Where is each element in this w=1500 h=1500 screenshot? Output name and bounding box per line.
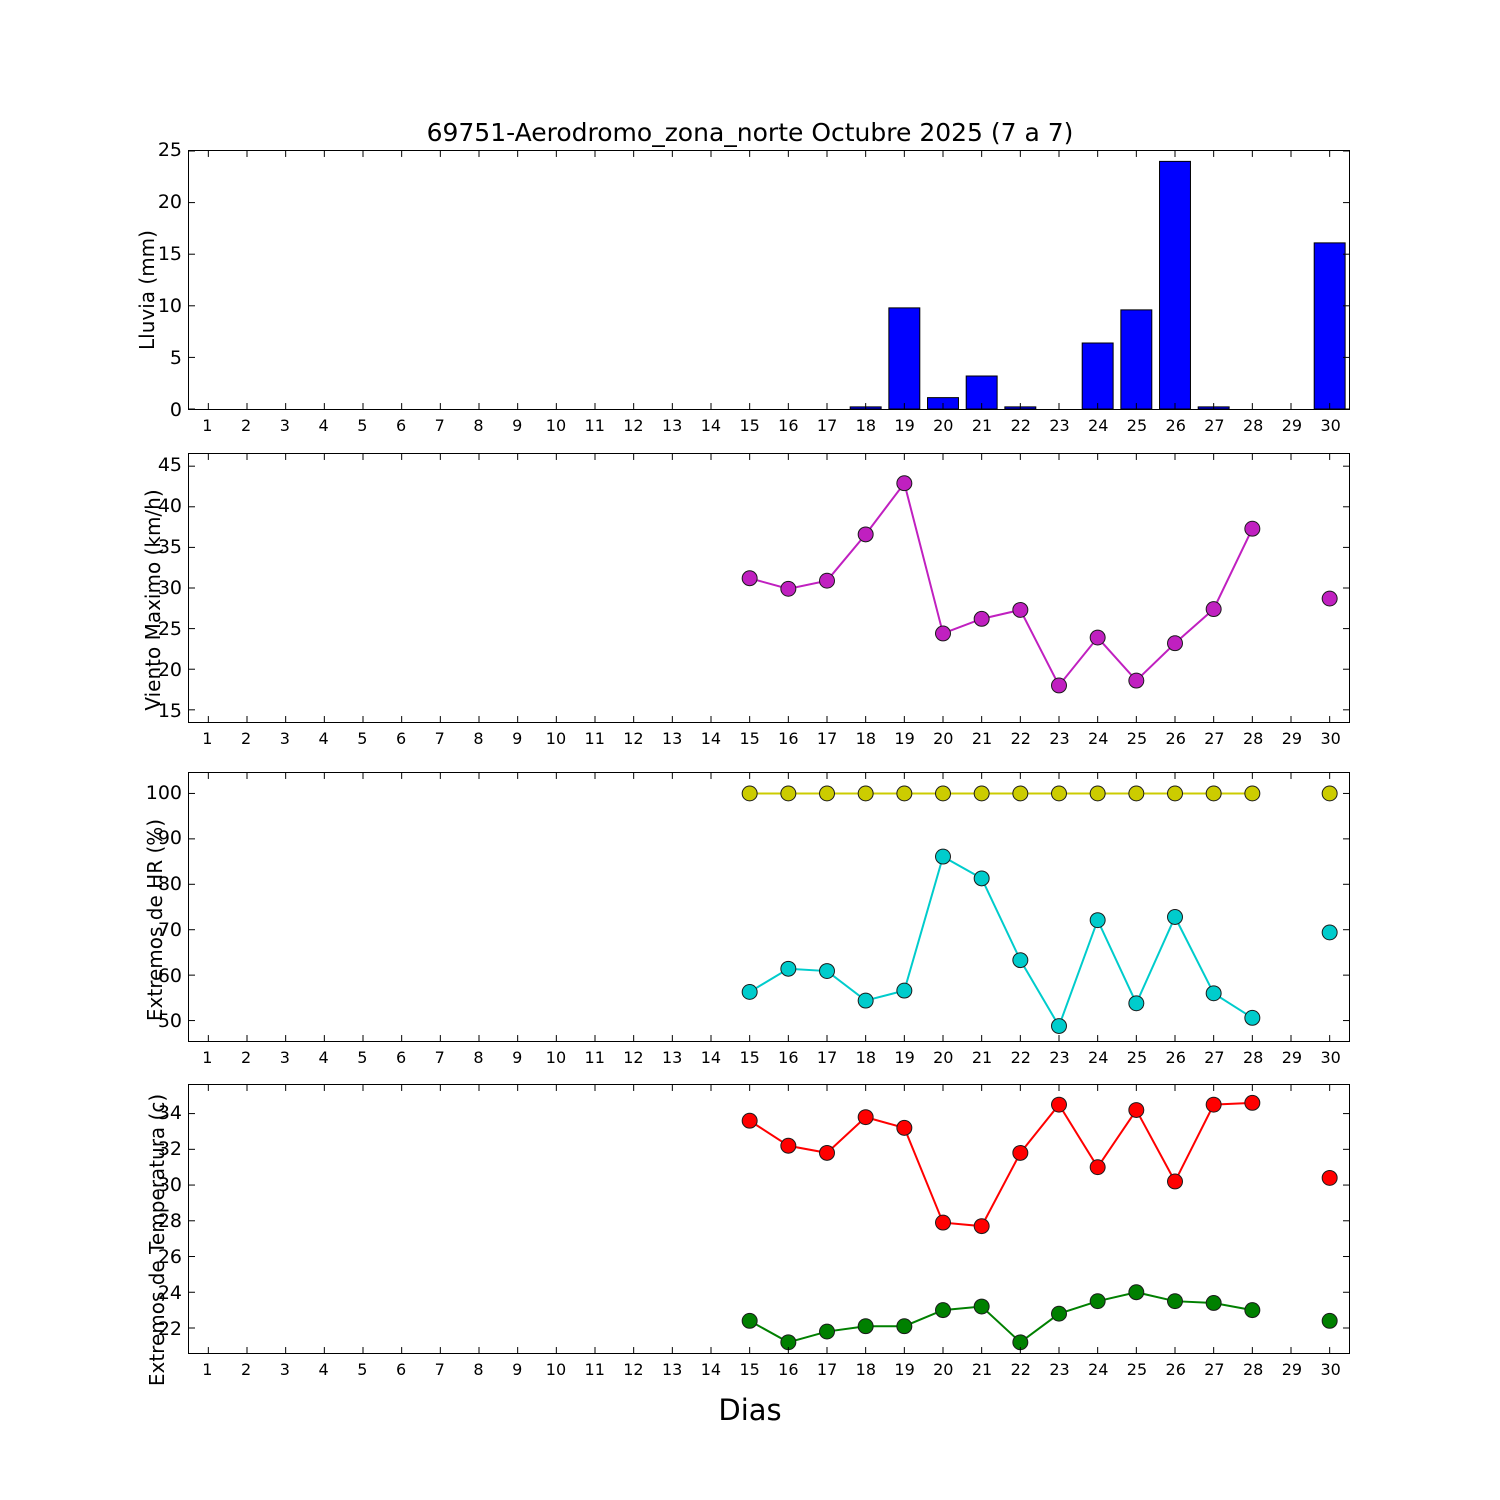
- xtick-label: 5: [357, 729, 367, 748]
- series-marker: [1322, 925, 1337, 940]
- ytick-labels-temperatura: 22242628303234: [136, 1084, 182, 1354]
- series-marker: [820, 786, 835, 801]
- ytick-label: 80: [158, 873, 182, 895]
- xtick-label: 20: [933, 729, 953, 748]
- ytick-labels-hr: 5060708090100: [136, 772, 182, 1042]
- series-marker: [1052, 1306, 1067, 1321]
- series-marker: [820, 573, 835, 588]
- xtick-label: 10: [546, 1048, 566, 1067]
- series-marker: [1129, 786, 1144, 801]
- xtick-label: 1: [202, 416, 212, 435]
- series-marker: [1052, 678, 1067, 693]
- ytick-label: 28: [158, 1210, 182, 1232]
- ytick-labels-lluvia: 0510152025: [136, 150, 182, 410]
- xtick-label: 13: [662, 1360, 682, 1379]
- xtick-label: 5: [357, 1360, 367, 1379]
- series-marker: [1245, 786, 1260, 801]
- ytick-label: 30: [158, 1174, 182, 1196]
- xtick-label: 9: [512, 729, 522, 748]
- series-marker: [1129, 673, 1144, 688]
- xtick-label: 25: [1127, 729, 1147, 748]
- xtick-label: 23: [1049, 729, 1069, 748]
- xtick-label: 1: [202, 1360, 212, 1379]
- series-marker: [1013, 786, 1028, 801]
- xtick-label: 27: [1204, 1360, 1224, 1379]
- xtick-label: 2: [241, 729, 251, 748]
- xtick-label: 3: [280, 729, 290, 748]
- xtick-label: 19: [894, 416, 914, 435]
- xtick-label: 6: [396, 1360, 406, 1379]
- ytick-label: 100: [146, 782, 182, 804]
- temperatura-series: [742, 1095, 1337, 1349]
- ytick-label: 10: [158, 295, 182, 317]
- xtick-label: 12: [623, 1360, 643, 1379]
- xtick-label: 28: [1243, 1360, 1263, 1379]
- xtick-label: 16: [778, 416, 798, 435]
- series-marker: [1090, 1294, 1105, 1309]
- series-marker: [1322, 591, 1337, 606]
- series-marker: [1245, 1303, 1260, 1318]
- axis-ticks: [189, 454, 1349, 722]
- series-marker: [820, 1145, 835, 1160]
- xtick-label: 24: [1088, 416, 1108, 435]
- xtick-label: 29: [1282, 1048, 1302, 1067]
- ytick-labels-viento: 15202530354045: [136, 453, 182, 723]
- xtick-label: 18: [856, 1360, 876, 1379]
- viento-plot: [189, 454, 1349, 722]
- viento-series: [742, 476, 1337, 693]
- xtick-label: 18: [856, 416, 876, 435]
- xtick-label: 2: [241, 1048, 251, 1067]
- series-marker: [936, 1303, 951, 1318]
- xtick-label: 11: [585, 1360, 605, 1379]
- series-marker: [742, 1313, 757, 1328]
- ytick-label: 26: [158, 1246, 182, 1268]
- xtick-label: 8: [473, 416, 483, 435]
- series-marker: [1206, 786, 1221, 801]
- xtick-label: 24: [1088, 1360, 1108, 1379]
- series-marker: [897, 1319, 912, 1334]
- series-marker: [1168, 1174, 1183, 1189]
- xtick-label: 3: [280, 416, 290, 435]
- xtick-label: 21: [972, 729, 992, 748]
- xtick-label: 30: [1320, 416, 1340, 435]
- xaxis-title: Dias: [0, 1393, 1500, 1427]
- xtick-label: 17: [817, 416, 837, 435]
- xtick-label: 25: [1127, 416, 1147, 435]
- xtick-label: 7: [435, 729, 445, 748]
- xtick-label: 30: [1320, 1360, 1340, 1379]
- series-marker: [936, 626, 951, 641]
- xtick-label: 4: [318, 1360, 328, 1379]
- xtick-label: 17: [817, 1360, 837, 1379]
- series-marker: [1168, 636, 1183, 651]
- panel-lluvia: [188, 150, 1350, 410]
- xtick-label: 29: [1282, 729, 1302, 748]
- series-marker: [897, 786, 912, 801]
- series-marker: [1168, 1294, 1183, 1309]
- xtick-label: 11: [585, 416, 605, 435]
- series-marker: [1090, 1160, 1105, 1175]
- xtick-label: 24: [1088, 729, 1108, 748]
- xtick-label: 8: [473, 1048, 483, 1067]
- ytick-label: 30: [158, 577, 182, 599]
- xtick-label: 25: [1127, 1360, 1147, 1379]
- series-marker: [742, 984, 757, 999]
- xtick-label: 13: [662, 416, 682, 435]
- xtick-label: 22: [1011, 416, 1031, 435]
- xtick-label: 16: [778, 1048, 798, 1067]
- axis-ticks: [189, 773, 1349, 1041]
- xtick-label: 8: [473, 729, 483, 748]
- xtick-label: 26: [1166, 1360, 1186, 1379]
- xtick-label: 23: [1049, 1360, 1069, 1379]
- series-marker: [858, 1319, 873, 1334]
- ytick-label: 20: [158, 191, 182, 213]
- series-marker: [781, 786, 796, 801]
- series-line: [750, 1103, 1253, 1226]
- ytick-label: 60: [158, 965, 182, 987]
- series-marker: [974, 1299, 989, 1314]
- xtick-label: 21: [972, 1360, 992, 1379]
- xtick-label: 28: [1243, 416, 1263, 435]
- xtick-label: 23: [1049, 1048, 1069, 1067]
- xtick-label: 20: [933, 1048, 953, 1067]
- xtick-label: 7: [435, 1048, 445, 1067]
- xtick-label: 14: [701, 416, 721, 435]
- ytick-label: 25: [158, 139, 182, 161]
- ytick-label: 25: [158, 618, 182, 640]
- series-marker: [1206, 602, 1221, 617]
- series-marker: [1129, 996, 1144, 1011]
- xtick-label: 15: [739, 1048, 759, 1067]
- series-marker: [974, 871, 989, 886]
- xtick-label: 13: [662, 729, 682, 748]
- series-marker: [742, 1113, 757, 1128]
- xtick-label: 1: [202, 1048, 212, 1067]
- xtick-label: 20: [933, 1360, 953, 1379]
- xtick-label: 13: [662, 1048, 682, 1067]
- series-marker: [742, 571, 757, 586]
- xtick-label: 3: [280, 1048, 290, 1067]
- ytick-label: 22: [158, 1318, 182, 1340]
- lluvia-bars: [850, 161, 1345, 409]
- xtick-label: 9: [512, 1360, 522, 1379]
- xtick-label: 29: [1282, 416, 1302, 435]
- series-marker: [974, 1219, 989, 1234]
- xtick-label: 25: [1127, 1048, 1147, 1067]
- chart-page: 69751-Aerodromo_zona_norte Octubre 2025 …: [0, 0, 1500, 1500]
- rain-bar: [1314, 243, 1345, 409]
- series-marker: [1013, 602, 1028, 617]
- xtick-label: 16: [778, 1360, 798, 1379]
- ytick-label: 15: [158, 243, 182, 265]
- series-marker: [858, 786, 873, 801]
- series-marker: [1168, 786, 1183, 801]
- series-marker: [936, 1215, 951, 1230]
- rain-bar: [1121, 310, 1152, 409]
- series-marker: [1129, 1103, 1144, 1118]
- xtick-label: 26: [1166, 729, 1186, 748]
- series-marker: [858, 527, 873, 542]
- xtick-label: 7: [435, 416, 445, 435]
- series-marker: [1322, 1313, 1337, 1328]
- xtick-label: 12: [623, 416, 643, 435]
- xtick-label: 28: [1243, 729, 1263, 748]
- ytick-label: 40: [158, 495, 182, 517]
- rain-bar: [889, 308, 920, 409]
- xticks-hr: 1234567891011121314151617181920212223242…: [188, 1048, 1350, 1072]
- series-marker: [974, 786, 989, 801]
- series-marker: [936, 849, 951, 864]
- xtick-label: 21: [972, 1048, 992, 1067]
- xtick-label: 14: [701, 1360, 721, 1379]
- axis-ticks: [189, 1085, 1349, 1353]
- xtick-label: 10: [546, 416, 566, 435]
- xtick-label: 19: [894, 1048, 914, 1067]
- xticks-temperatura: 1234567891011121314151617181920212223242…: [188, 1360, 1350, 1384]
- xtick-label: 10: [546, 1360, 566, 1379]
- xtick-label: 22: [1011, 1048, 1031, 1067]
- xtick-label: 4: [318, 729, 328, 748]
- series-marker: [897, 476, 912, 491]
- series-marker: [820, 964, 835, 979]
- xtick-label: 30: [1320, 1048, 1340, 1067]
- xtick-label: 2: [241, 1360, 251, 1379]
- series-marker: [1168, 910, 1183, 925]
- xtick-label: 4: [318, 416, 328, 435]
- xtick-label: 11: [585, 729, 605, 748]
- ytick-label: 0: [170, 399, 182, 421]
- rain-bar: [1160, 161, 1191, 409]
- xtick-label: 26: [1166, 416, 1186, 435]
- ytick-label: 24: [158, 1282, 182, 1304]
- series-marker: [781, 1138, 796, 1153]
- series-marker: [1245, 1010, 1260, 1025]
- xtick-label: 5: [357, 1048, 367, 1067]
- page-title: 69751-Aerodromo_zona_norte Octubre 2025 …: [0, 118, 1500, 147]
- ytick-label: 20: [158, 659, 182, 681]
- series-marker: [1052, 1019, 1067, 1034]
- xtick-label: 14: [701, 1048, 721, 1067]
- xtick-label: 3: [280, 1360, 290, 1379]
- xtick-label: 29: [1282, 1360, 1302, 1379]
- xtick-label: 10: [546, 729, 566, 748]
- series-marker: [1090, 786, 1105, 801]
- xtick-label: 17: [817, 729, 837, 748]
- series-marker: [936, 786, 951, 801]
- xtick-label: 27: [1204, 416, 1224, 435]
- xtick-label: 5: [357, 416, 367, 435]
- xtick-label: 6: [396, 1048, 406, 1067]
- ytick-label: 5: [170, 347, 182, 369]
- ytick-label: 32: [158, 1138, 182, 1160]
- series-marker: [781, 581, 796, 596]
- ytick-label: 34: [158, 1102, 182, 1124]
- xtick-label: 24: [1088, 1048, 1108, 1067]
- series-marker: [858, 993, 873, 1008]
- series-marker: [1322, 1170, 1337, 1185]
- temperatura-plot: [189, 1085, 1349, 1353]
- xticks-lluvia: 1234567891011121314151617181920212223242…: [188, 416, 1350, 440]
- xtick-label: 6: [396, 416, 406, 435]
- xtick-label: 9: [512, 416, 522, 435]
- series-marker: [1206, 986, 1221, 1001]
- xtick-label: 4: [318, 1048, 328, 1067]
- series-marker: [897, 1120, 912, 1135]
- xtick-label: 27: [1204, 729, 1224, 748]
- series-marker: [858, 1110, 873, 1125]
- series-marker: [781, 961, 796, 976]
- series-marker: [1013, 953, 1028, 968]
- series-marker: [1129, 1285, 1144, 1300]
- series-marker: [1090, 630, 1105, 645]
- xtick-label: 19: [894, 1360, 914, 1379]
- series-marker: [1090, 913, 1105, 928]
- series-marker: [742, 786, 757, 801]
- xtick-label: 15: [739, 1360, 759, 1379]
- ytick-label: 35: [158, 536, 182, 558]
- xtick-label: 15: [739, 729, 759, 748]
- panel-viento: [188, 453, 1350, 723]
- xtick-label: 12: [623, 729, 643, 748]
- panel-temperatura: [188, 1084, 1350, 1354]
- series-marker: [1052, 1097, 1067, 1112]
- xtick-label: 17: [817, 1048, 837, 1067]
- rain-bar: [1082, 343, 1113, 409]
- xtick-label: 2: [241, 416, 251, 435]
- hr-plot: [189, 773, 1349, 1041]
- ytick-label: 15: [158, 700, 182, 722]
- xtick-label: 7: [435, 1360, 445, 1379]
- xtick-label: 20: [933, 416, 953, 435]
- xtick-label: 27: [1204, 1048, 1224, 1067]
- xtick-label: 23: [1049, 416, 1069, 435]
- xtick-label: 6: [396, 729, 406, 748]
- xticks-viento: 1234567891011121314151617181920212223242…: [188, 729, 1350, 753]
- lluvia-plot: [189, 151, 1349, 409]
- series-marker: [1052, 786, 1067, 801]
- xtick-label: 9: [512, 1048, 522, 1067]
- panel-hr: [188, 772, 1350, 1042]
- xtick-label: 21: [972, 416, 992, 435]
- series-marker: [1013, 1145, 1028, 1160]
- xtick-label: 30: [1320, 729, 1340, 748]
- ytick-label: 50: [158, 1010, 182, 1032]
- series-line: [750, 857, 1253, 1026]
- series-marker: [897, 983, 912, 998]
- xtick-label: 8: [473, 1360, 483, 1379]
- xtick-label: 26: [1166, 1048, 1186, 1067]
- xtick-label: 16: [778, 729, 798, 748]
- series-marker: [1206, 1097, 1221, 1112]
- xtick-label: 22: [1011, 1360, 1031, 1379]
- xtick-label: 18: [856, 1048, 876, 1067]
- series-marker: [820, 1324, 835, 1339]
- ytick-label: 70: [158, 919, 182, 941]
- xtick-label: 1: [202, 729, 212, 748]
- series-marker: [1322, 786, 1337, 801]
- series-marker: [1245, 1095, 1260, 1110]
- xtick-label: 11: [585, 1048, 605, 1067]
- series-marker: [1206, 1296, 1221, 1311]
- xtick-label: 14: [701, 729, 721, 748]
- hr-series: [742, 786, 1337, 1033]
- xtick-label: 12: [623, 1048, 643, 1067]
- series-marker: [1245, 521, 1260, 536]
- ytick-label: 90: [158, 827, 182, 849]
- series-marker: [974, 611, 989, 626]
- xtick-label: 19: [894, 729, 914, 748]
- xtick-label: 28: [1243, 1048, 1263, 1067]
- xtick-label: 15: [739, 416, 759, 435]
- xtick-label: 22: [1011, 729, 1031, 748]
- xtick-label: 18: [856, 729, 876, 748]
- ytick-label: 45: [158, 454, 182, 476]
